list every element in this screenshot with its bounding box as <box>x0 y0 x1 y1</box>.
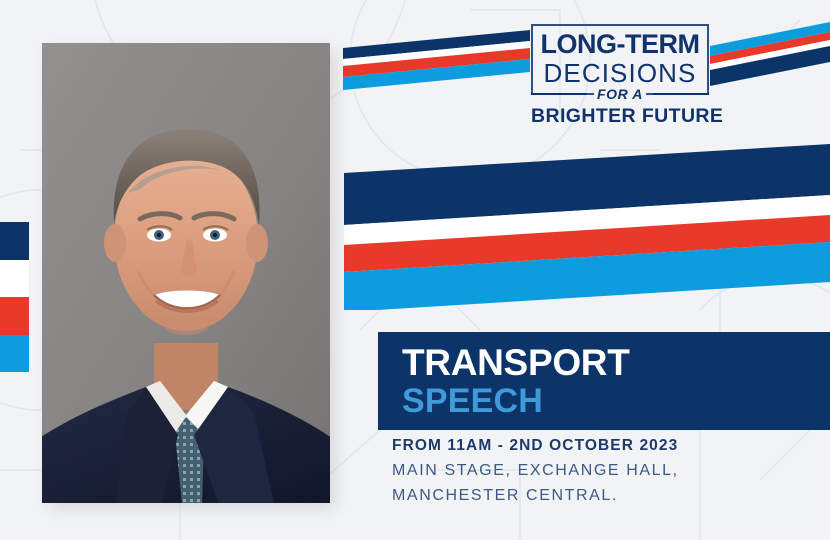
logo-box: LONG-TERM DECISIONS <box>531 24 709 95</box>
logo-rule-right <box>653 93 709 95</box>
title-band: TRANSPORT SPEECH <box>378 332 830 430</box>
left-stripe-red <box>0 297 29 335</box>
logo-line-brighter-future: BRIGHTER FUTURE <box>531 105 709 128</box>
left-stripe-white <box>0 260 29 298</box>
event-graphic-card: LONG-TERM DECISIONS FOR A BRIGHTER FUTUR… <box>0 0 830 540</box>
logo-line-decisions: DECISIONS <box>539 60 701 86</box>
logo-line-long-term: LONG-TERM <box>539 31 701 58</box>
top-stripe-right-segment <box>710 22 830 86</box>
title-line-transport: TRANSPORT <box>402 344 630 381</box>
event-venue-line2: MANCHESTER CENTRAL. <box>392 487 679 505</box>
logo-connector-for-a: FOR A <box>594 86 646 102</box>
event-venue-line1: MAIN STAGE, EXCHANGE HALL, <box>392 462 679 480</box>
event-time-date: FROM 11AM - 2ND OCTOBER 2023 <box>392 437 679 455</box>
logo-rule-left <box>531 93 587 95</box>
speaker-portrait-photo <box>42 43 330 503</box>
left-edge-stripe-block <box>0 222 29 372</box>
title-line-speech: SPEECH <box>402 384 543 418</box>
event-details: FROM 11AM - 2ND OCTOBER 2023 MAIN STAGE,… <box>392 437 679 505</box>
logo-connector-row: FOR A <box>531 86 709 102</box>
left-stripe-navy <box>0 222 29 260</box>
campaign-logo: LONG-TERM DECISIONS FOR A BRIGHTER FUTUR… <box>531 24 709 128</box>
top-stripe-left-segment <box>343 30 530 90</box>
left-stripe-blue <box>0 335 29 373</box>
